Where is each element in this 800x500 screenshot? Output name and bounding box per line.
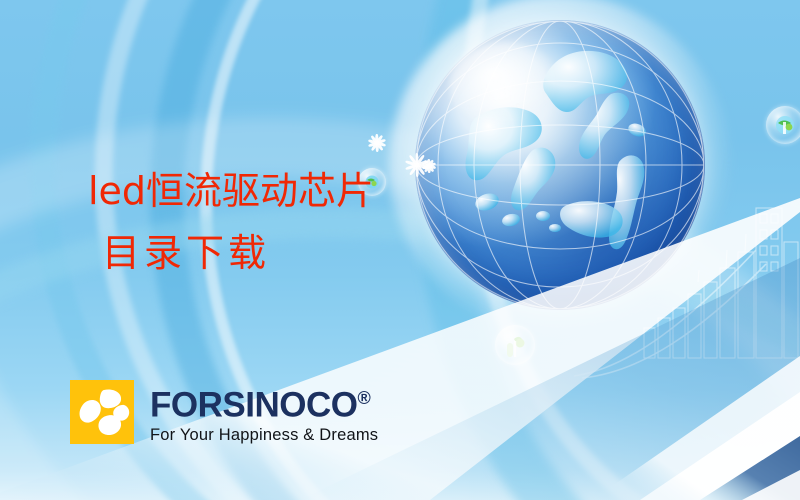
logo-name-text: FORSINOCO: [150, 386, 357, 425]
registered-trademark-icon: ®: [357, 388, 370, 408]
headline-line-2: 目录下载: [102, 222, 508, 284]
company-logo[interactable]: FORSINOCO® For Your Happiness & Dreams: [70, 380, 378, 445]
headline-line-1: led恒流驱动芯片: [88, 160, 508, 222]
logo-tagline: For Your Happiness & Dreams: [150, 425, 378, 445]
headline-block: led恒流驱动芯片 目录下载: [88, 160, 508, 284]
logo-company-name: FORSINOCO®: [150, 380, 378, 424]
promo-banner: led恒流驱动芯片 目录下载 FORSINOCO® For Your Happi…: [0, 0, 800, 500]
four-petal-pinwheel-flower-icon: [70, 380, 134, 444]
logo-text-block: FORSINOCO® For Your Happiness & Dreams: [150, 380, 378, 445]
